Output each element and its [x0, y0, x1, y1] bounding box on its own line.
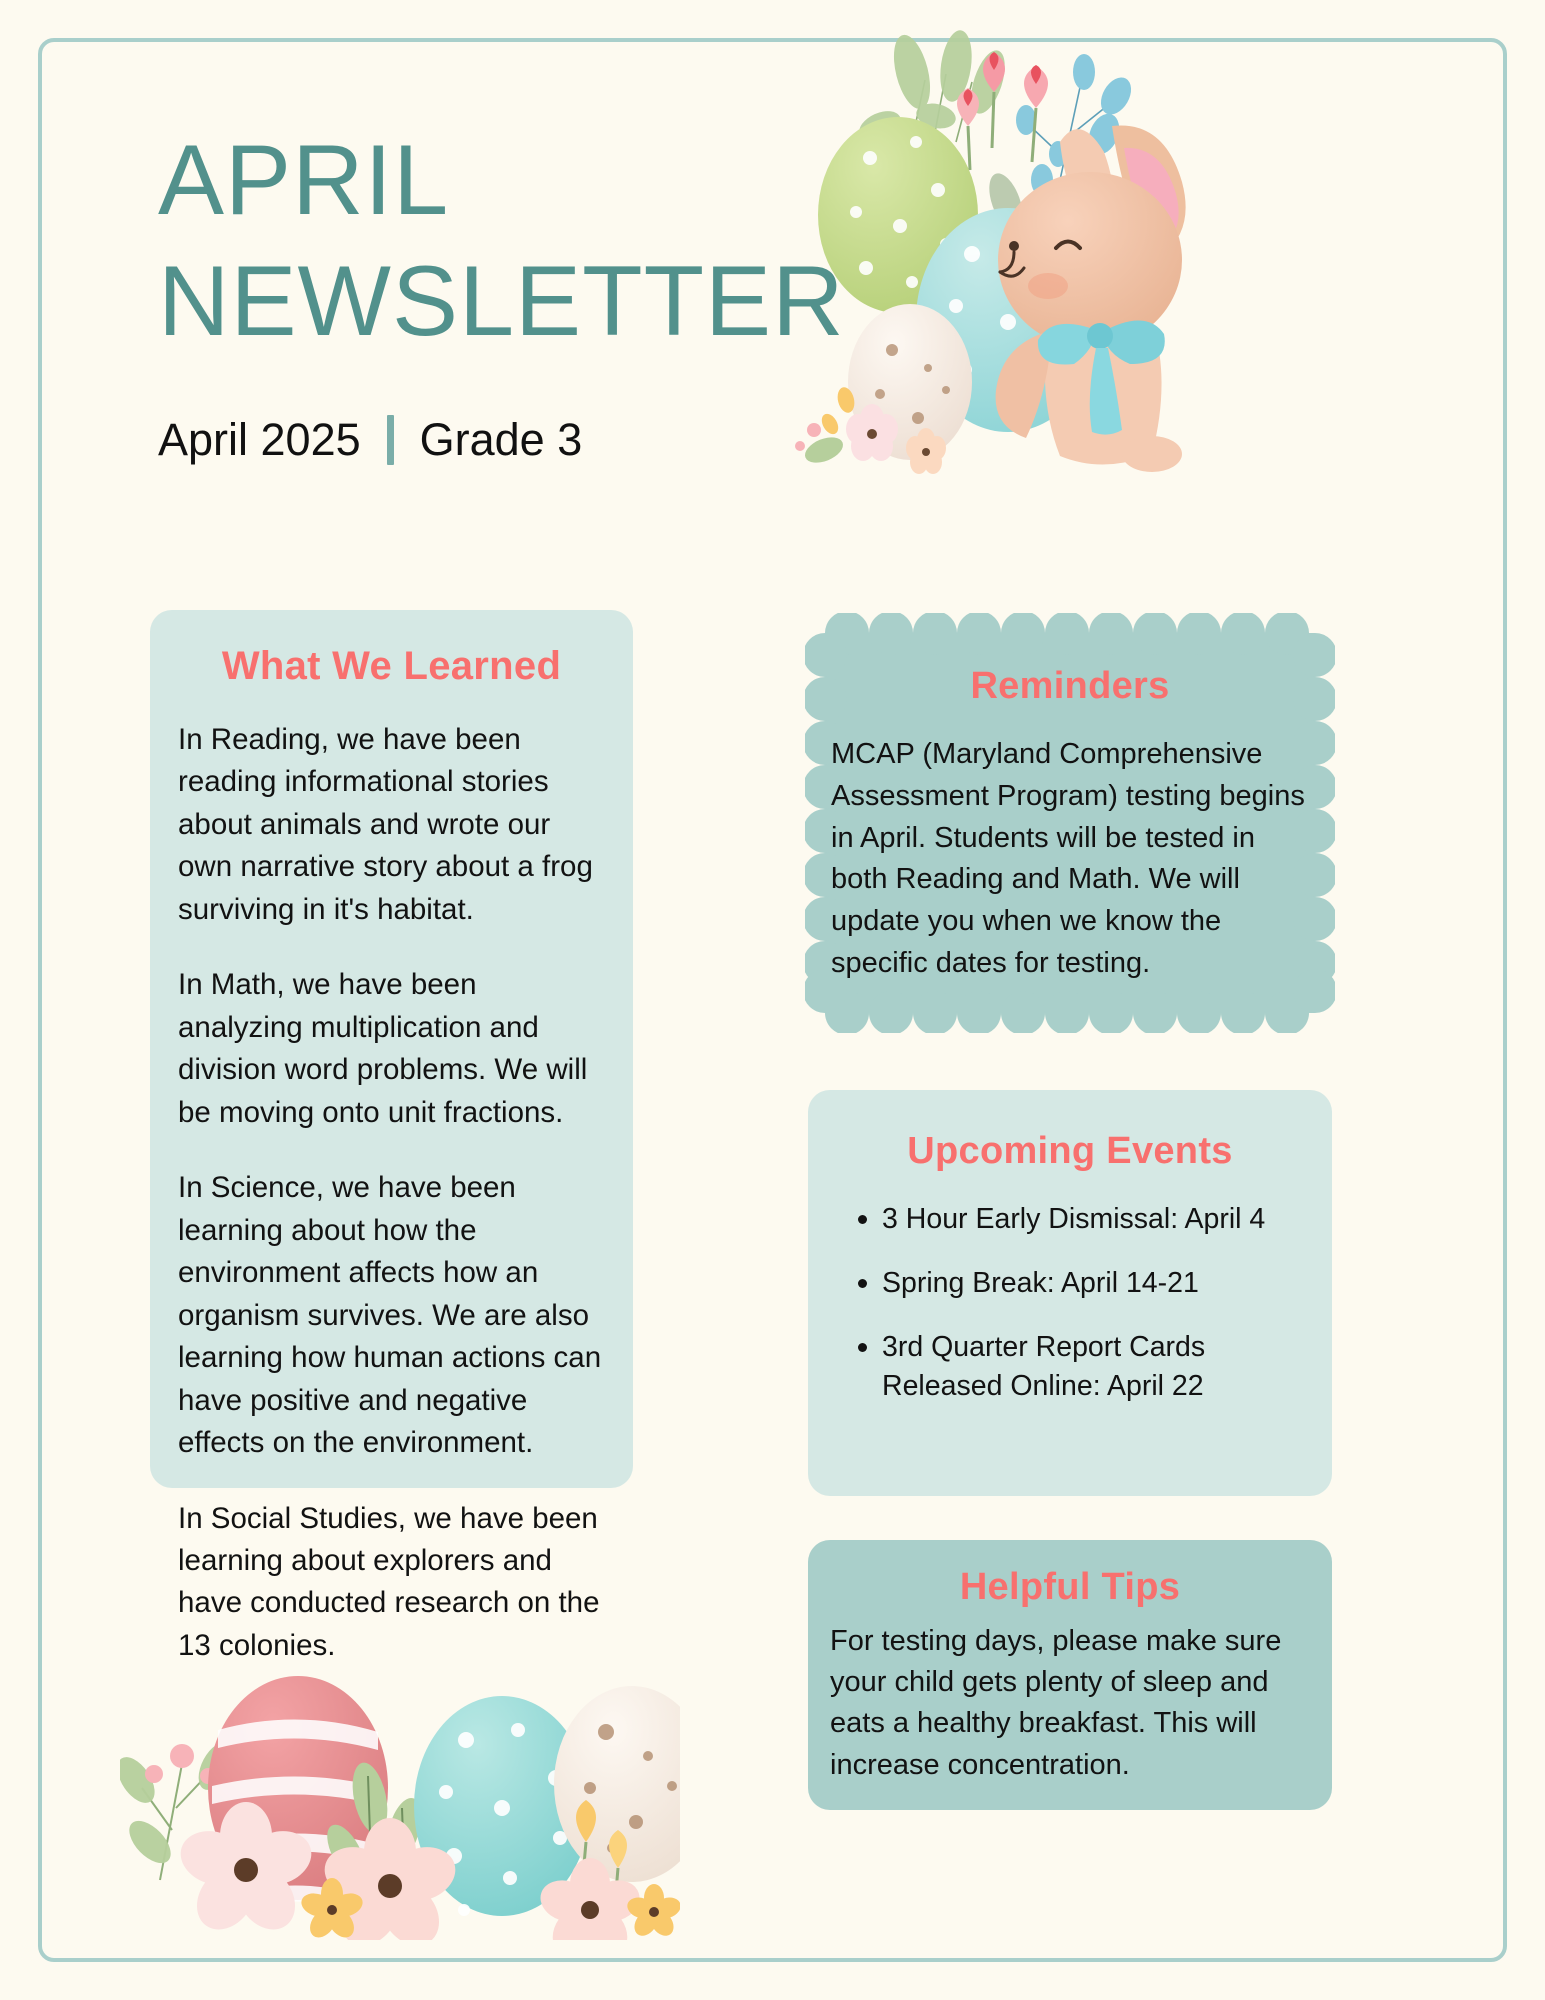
page-title-line-1: APRIL: [158, 120, 978, 241]
paragraph-math: In Math, we have been analyzing multipli…: [178, 964, 605, 1134]
card-heading-helpful-tips: Helpful Tips: [808, 1566, 1332, 1609]
masthead: APRIL NEWSLETTER April 2025 Grade 3: [158, 120, 978, 466]
card-heading-what-we-learned: What We Learned: [150, 644, 633, 689]
issue-date: April 2025: [158, 414, 361, 466]
card-body-helpful-tips: For testing days, please make sure your …: [830, 1621, 1310, 1786]
paragraph-science: In Science, we have been learning about …: [178, 1167, 605, 1464]
card-upcoming-events: Upcoming Events 3 Hour Early Dismissal: …: [808, 1090, 1332, 1496]
list-item: 3rd Quarter Report Cards Released Online…: [882, 1327, 1306, 1404]
list-item: Spring Break: April 14-21: [882, 1263, 1306, 1302]
card-body-reminders: MCAP (Maryland Comprehensive Assessment …: [831, 734, 1309, 985]
card-body-what-we-learned: In Reading, we have been reading informa…: [178, 719, 605, 1667]
newsletter-page: APRIL NEWSLETTER April 2025 Grade 3 What…: [0, 0, 1545, 2000]
paragraph-social-studies: In Social Studies, we have been learning…: [178, 1498, 605, 1668]
card-heading-reminders: Reminders: [831, 665, 1309, 708]
subtitle-row: April 2025 Grade 3: [158, 414, 978, 466]
list-item: 3 Hour Early Dismissal: April 4: [882, 1199, 1306, 1238]
grade-label: Grade 3: [420, 414, 583, 466]
paragraph-reading: In Reading, we have been reading informa…: [178, 719, 605, 931]
page-title-line-2: NEWSLETTER: [158, 241, 978, 362]
upcoming-events-list: 3 Hour Early Dismissal: April 4 Spring B…: [848, 1199, 1306, 1405]
card-reminders: Reminders MCAP (Maryland Comprehensive A…: [805, 613, 1335, 1033]
card-heading-upcoming-events: Upcoming Events: [808, 1130, 1332, 1173]
card-helpful-tips: Helpful Tips For testing days, please ma…: [808, 1540, 1332, 1810]
subtitle-divider: [387, 415, 394, 465]
card-what-we-learned: What We Learned In Reading, we have been…: [150, 610, 633, 1488]
